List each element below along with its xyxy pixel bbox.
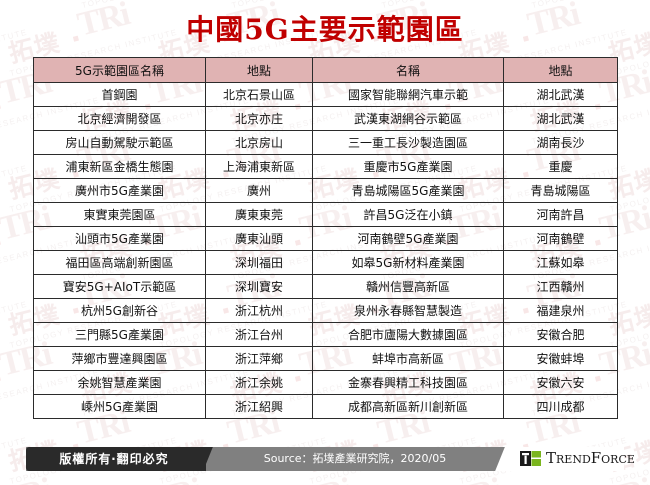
- slide-content: 中國5G主要示範園區 5G示範園區名稱 地點 名稱 地點 首鋼園北京石景山區國家…: [0, 0, 650, 485]
- table-row: 汕頭市5G產業園廣東汕頭河南鶴壁5G產業園河南鶴壁: [34, 227, 618, 251]
- cell-zone-name-right: 青島城陽區5G產業園: [313, 179, 504, 203]
- cell-location-left: 廣東東莞: [206, 203, 313, 227]
- cell-zone-name-right: 國家智能聯網汽車示範: [313, 83, 504, 107]
- cell-zone-name-left: 杭州5G創新谷: [34, 299, 206, 323]
- cell-zone-name-left: 福田區高端創新園區: [34, 251, 206, 275]
- column-header-zone-name-right: 名稱: [313, 58, 504, 83]
- cell-zone-name-right: 許昌5G泛在小鎮: [313, 203, 504, 227]
- table-row: 房山自動駕駛示範區北京房山三一重工長沙製造園區湖南長沙: [34, 131, 618, 155]
- table-header-row: 5G示範園區名稱 地點 名稱 地點: [34, 58, 618, 83]
- cell-zone-name-left: 房山自動駕駛示範區: [34, 131, 206, 155]
- table-row: 浦東新區金橋生態園上海浦東新區重慶市5G產業園重慶: [34, 155, 618, 179]
- trendforce-logo-text: TrendForce: [546, 449, 635, 467]
- cell-zone-name-right: 金寨春興精工科技園區: [313, 371, 504, 395]
- cell-location-left: 上海浦東新區: [206, 155, 313, 179]
- cell-location-left: 北京亦庄: [206, 107, 313, 131]
- footer-bar: 版權所有‧翻印必究 Source：拓墣產業研究院，2020/05 TrendFo…: [0, 444, 650, 474]
- trendforce-logo: TrendForce: [516, 449, 635, 467]
- cell-location-right: 河南鶴壁: [504, 227, 618, 251]
- cell-location-right: 青島城陽區: [504, 179, 618, 203]
- cell-zone-name-right: 贛州信豐高新區: [313, 275, 504, 299]
- cell-zone-name-left: 寶安5G+AIoT示範區: [34, 275, 206, 299]
- cell-location-right: 重慶: [504, 155, 618, 179]
- table-row: 東實東莞園區廣東東莞許昌5G泛在小鎮河南許昌: [34, 203, 618, 227]
- cell-zone-name-left: 萍鄉市豐達興園區: [34, 347, 206, 371]
- data-table-wrapper: 5G示範園區名稱 地點 名稱 地點 首鋼園北京石景山區國家智能聯網汽車示範湖北武…: [33, 57, 617, 419]
- table-head: 5G示範園區名稱 地點 名稱 地點: [34, 58, 618, 83]
- table-row: 北京經濟開發區北京亦庄武漢東湖網谷示範區湖北武漢: [34, 107, 618, 131]
- cell-zone-name-right: 合肥市廬陽大數據園區: [313, 323, 504, 347]
- table-row: 余姚智慧產業園浙江余姚金寨春興精工科技園區安徽六安: [34, 371, 618, 395]
- cell-location-left: 浙江杭州: [206, 299, 313, 323]
- cell-location-right: 四川成都: [504, 395, 618, 419]
- cell-zone-name-right: 武漢東湖網谷示範區: [313, 107, 504, 131]
- table-row: 寶安5G+AIoT示範區深圳寶安贛州信豐高新區江西贛州: [34, 275, 618, 299]
- cell-zone-name-left: 廣州市5G產業園: [34, 179, 206, 203]
- cell-location-right: 安徽六安: [504, 371, 618, 395]
- trendforce-logo-mark: [516, 450, 542, 467]
- table-row: 廣州市5G產業園廣州青島城陽區5G產業園青島城陽區: [34, 179, 618, 203]
- cell-location-right: 安徽蚌埠: [504, 347, 618, 371]
- copyright-notice: 版權所有‧翻印必究: [34, 450, 194, 468]
- cell-location-left: 浙江萍鄉: [206, 347, 313, 371]
- cell-location-right: 湖北武漢: [504, 107, 618, 131]
- cell-zone-name-right: 重慶市5G產業園: [313, 155, 504, 179]
- cell-zone-name-right: 河南鶴壁5G產業園: [313, 227, 504, 251]
- cell-zone-name-right: 蚌埠市高新區: [313, 347, 504, 371]
- cell-location-right: 江蘇如皋: [504, 251, 618, 275]
- column-header-zone-name-left: 5G示範園區名稱: [34, 58, 206, 83]
- cell-zone-name-right: 三一重工長沙製造園區: [313, 131, 504, 155]
- zones-table: 5G示範園區名稱 地點 名稱 地點 首鋼園北京石景山區國家智能聯網汽車示範湖北武…: [33, 57, 618, 419]
- cell-location-left: 浙江紹興: [206, 395, 313, 419]
- table-row: 萍鄉市豐達興園區浙江萍鄉蚌埠市高新區安徽蚌埠: [34, 347, 618, 371]
- cell-zone-name-left: 三門縣5G產業園: [34, 323, 206, 347]
- column-header-location-right: 地點: [504, 58, 618, 83]
- cell-zone-name-left: 首鋼園: [34, 83, 206, 107]
- table-row: 杭州5G創新谷浙江杭州泉州永春縣智慧製造福建泉州: [34, 299, 618, 323]
- column-header-location-left: 地點: [206, 58, 313, 83]
- page-title: 中國5G主要示範園區: [0, 13, 650, 47]
- cell-location-right: 河南許昌: [504, 203, 618, 227]
- cell-location-left: 廣州: [206, 179, 313, 203]
- cell-zone-name-left: 北京經濟開發區: [34, 107, 206, 131]
- cell-zone-name-left: 余姚智慧產業園: [34, 371, 206, 395]
- table-body: 首鋼園北京石景山區國家智能聯網汽車示範湖北武漢北京經濟開發區北京亦庄武漢東湖網谷…: [34, 83, 618, 419]
- cell-location-left: 北京石景山區: [206, 83, 313, 107]
- cell-location-left: 深圳福田: [206, 251, 313, 275]
- cell-zone-name-left: 浦東新區金橋生態園: [34, 155, 206, 179]
- cell-location-right: 安徽合肥: [504, 323, 618, 347]
- cell-location-left: 北京房山: [206, 131, 313, 155]
- cell-location-right: 湖北武漢: [504, 83, 618, 107]
- table-row: 嵊州5G產業園浙江紹興成都高新區新川創新區四川成都: [34, 395, 618, 419]
- cell-location-right: 福建泉州: [504, 299, 618, 323]
- cell-location-left: 廣東汕頭: [206, 227, 313, 251]
- slide-canvas: 拓墣TRiTOPOLOGY RESEARCH INSTITUTE拓墣TRiTOP…: [0, 0, 650, 485]
- table-row: 首鋼園北京石景山區國家智能聯網汽車示範湖北武漢: [34, 83, 618, 107]
- table-row: 福田區高端創新園區深圳福田如皋5G新材料產業園江蘇如皋: [34, 251, 618, 275]
- cell-zone-name-left: 汕頭市5G產業園: [34, 227, 206, 251]
- cell-location-left: 浙江台州: [206, 323, 313, 347]
- cell-zone-name-right: 成都高新區新川創新區: [313, 395, 504, 419]
- source-citation: Source：拓墣產業研究院，2020/05: [210, 450, 500, 468]
- cell-zone-name-left: 東實東莞園區: [34, 203, 206, 227]
- cell-location-right: 湖南長沙: [504, 131, 618, 155]
- cell-zone-name-right: 如皋5G新材料產業園: [313, 251, 504, 275]
- cell-zone-name-left: 嵊州5G產業園: [34, 395, 206, 419]
- cell-location-left: 浙江余姚: [206, 371, 313, 395]
- cell-location-right: 江西贛州: [504, 275, 618, 299]
- cell-location-left: 深圳寶安: [206, 275, 313, 299]
- table-row: 三門縣5G產業園浙江台州合肥市廬陽大數據園區安徽合肥: [34, 323, 618, 347]
- cell-zone-name-right: 泉州永春縣智慧製造: [313, 299, 504, 323]
